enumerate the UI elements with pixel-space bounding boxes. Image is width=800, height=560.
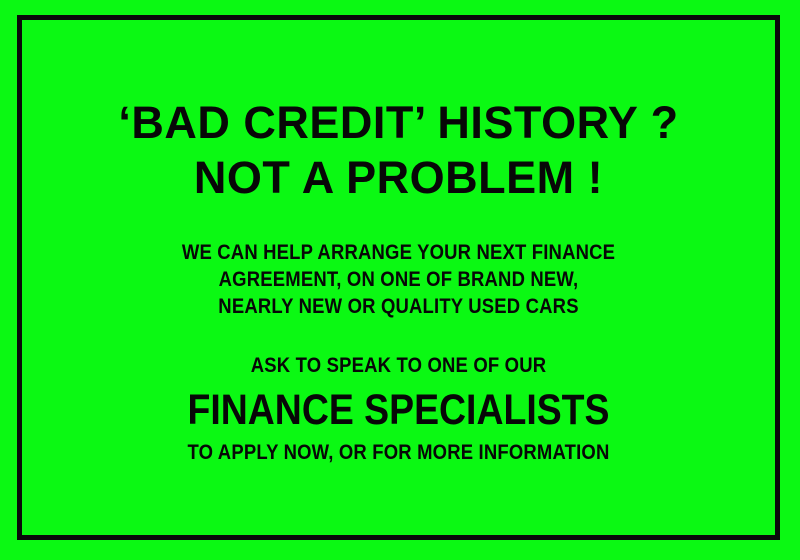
poster-content: ‘BAD CREDIT’ HISTORY ? NOT A PROBLEM ! W… (22, 20, 775, 535)
headline-block: ‘BAD CREDIT’ HISTORY ? (22, 96, 775, 149)
paragraph-block: WE CAN HELP ARRANGE YOUR NEXT FINANCE AG… (22, 239, 775, 320)
paragraph-line-2: AGREEMENT, ON ONE OF BRAND NEW, (67, 266, 730, 293)
advertisement-poster: ‘BAD CREDIT’ HISTORY ? NOT A PROBLEM ! W… (0, 0, 800, 560)
headline-line-2: NOT A PROBLEM ! (22, 151, 775, 204)
call-to-action-block: ASK TO SPEAK TO ONE OF OUR FINANCE SPECI… (22, 352, 775, 466)
paragraph-line-1: WE CAN HELP ARRANGE YOUR NEXT FINANCE (67, 239, 730, 266)
paragraph-line-3: NEARLY NEW OR QUALITY USED CARS (67, 293, 730, 320)
cta-emphasis-line: FINANCE SPECIALISTS (71, 385, 726, 435)
cta-footer-line: TO APPLY NOW, OR FOR MORE INFORMATION (67, 439, 730, 466)
headline-line-1: ‘BAD CREDIT’ HISTORY ? (22, 96, 775, 149)
cta-intro-line: ASK TO SPEAK TO ONE OF OUR (67, 352, 730, 379)
headline-block-secondary: NOT A PROBLEM ! (22, 151, 775, 204)
